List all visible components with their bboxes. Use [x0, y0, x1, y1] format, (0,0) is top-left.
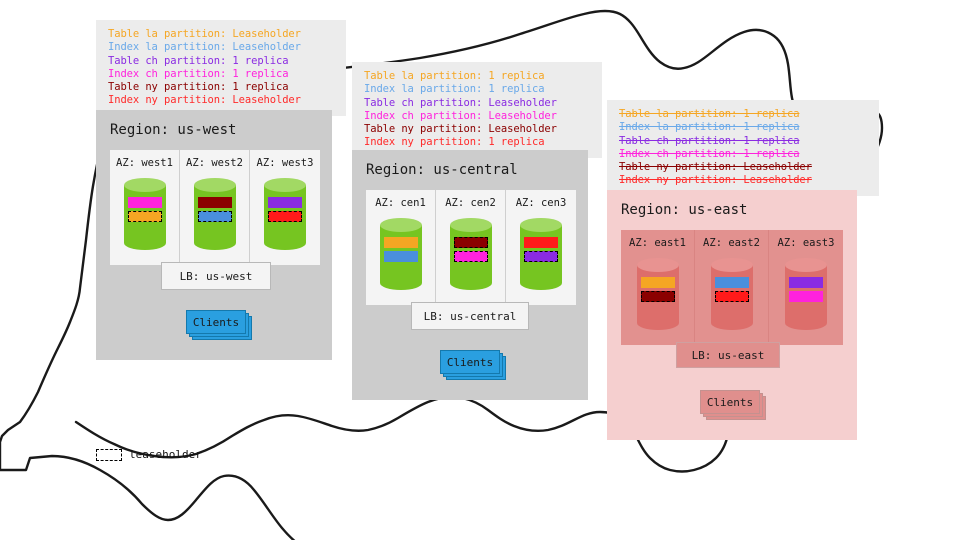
partition-bar-leaseholder	[454, 251, 488, 262]
config-line: Table ch partition: 1 replica	[619, 135, 869, 148]
config-line: Index ch partition: Leaseholder	[364, 110, 592, 123]
lb-us-east[interactable]: LB: us-east	[676, 342, 780, 368]
database-cylinder[interactable]	[264, 178, 306, 250]
lb-us-central[interactable]: LB: us-central	[411, 302, 529, 330]
partition-bars	[715, 277, 749, 305]
partition-bar-replica	[384, 237, 418, 248]
config-line: Index ny partition: Leaseholder	[619, 174, 869, 187]
partition-bars	[198, 197, 232, 225]
config-line: Table ny partition: Leaseholder	[364, 123, 592, 136]
partition-bars	[128, 197, 162, 225]
config-line: Index ch partition: 1 replica	[108, 68, 336, 81]
az-east2[interactable]: AZ: east2	[695, 230, 769, 345]
cylinder-top	[637, 258, 679, 272]
az-label: AZ: east1	[621, 237, 694, 249]
az-label: AZ: east3	[769, 237, 843, 249]
clients-label-us-east: Clients	[700, 390, 760, 414]
az-container-us-central: AZ: cen1AZ: cen2AZ: cen3	[366, 190, 576, 305]
config-line: Table ny partition: 1 replica	[108, 81, 336, 94]
partition-bar-leaseholder	[641, 291, 675, 302]
partition-bar-leaseholder	[268, 211, 302, 222]
cylinder-top	[264, 178, 306, 192]
partition-bar-replica	[641, 277, 675, 288]
partition-bars	[454, 237, 488, 265]
partition-bar-replica	[789, 291, 823, 302]
partition-bars	[524, 237, 558, 265]
az-west2[interactable]: AZ: west2	[180, 150, 250, 265]
config-line: Table ch partition: 1 replica	[108, 55, 336, 68]
cylinder-top	[711, 258, 753, 272]
az-label: AZ: west1	[110, 157, 179, 169]
partition-bar-replica	[198, 197, 232, 208]
az-label: AZ: east2	[695, 237, 768, 249]
cylinder-top	[194, 178, 236, 192]
partition-bar-replica	[715, 277, 749, 288]
az-east1[interactable]: AZ: east1	[621, 230, 695, 345]
partition-bars	[268, 197, 302, 225]
database-cylinder[interactable]	[785, 258, 827, 330]
cylinder-top	[380, 218, 422, 232]
partition-bar-leaseholder	[128, 211, 162, 222]
az-cen1[interactable]: AZ: cen1	[366, 190, 436, 305]
clients-us-central[interactable]: Clients	[440, 350, 510, 382]
config-panel-us-east: Table la partition: 1 replicaIndex la pa…	[607, 100, 879, 196]
az-container-us-west: AZ: west1AZ: west2AZ: west3	[110, 150, 320, 265]
partition-bar-replica	[268, 197, 302, 208]
partition-bar-leaseholder	[715, 291, 749, 302]
config-line: Table ny partition: Leaseholder	[619, 161, 869, 174]
partition-bar-leaseholder	[198, 211, 232, 222]
partition-bar-leaseholder	[454, 237, 488, 248]
leaseholder-legend-label: leaseholder	[129, 448, 202, 461]
leaseholder-swatch-icon	[96, 449, 122, 461]
az-cen3[interactable]: AZ: cen3	[506, 190, 576, 305]
region-title-us-west: Region: us-west	[110, 122, 236, 138]
partition-bars	[641, 277, 675, 305]
database-cylinder[interactable]	[637, 258, 679, 330]
partition-bar-replica	[524, 237, 558, 248]
config-line: Index ny partition: Leaseholder	[108, 94, 336, 107]
cylinder-top	[124, 178, 166, 192]
config-line: Index la partition: 1 replica	[364, 83, 592, 96]
config-line: Table la partition: 1 replica	[364, 70, 592, 83]
database-cylinder[interactable]	[380, 218, 422, 290]
database-cylinder[interactable]	[450, 218, 492, 290]
az-west3[interactable]: AZ: west3	[250, 150, 320, 265]
config-panel-us-west: Table la partition: LeaseholderIndex la …	[96, 20, 346, 116]
config-line: Index la partition: Leaseholder	[108, 41, 336, 54]
az-container-us-east: AZ: east1AZ: east2AZ: east3	[621, 230, 843, 345]
config-line: Table la partition: 1 replica	[619, 108, 869, 121]
az-label: AZ: west2	[180, 157, 249, 169]
partition-bar-leaseholder	[524, 251, 558, 262]
clients-label-us-central: Clients	[440, 350, 500, 374]
az-label: AZ: cen2	[436, 197, 505, 209]
region-title-us-central: Region: us-central	[366, 162, 518, 178]
clients-label-us-west: Clients	[186, 310, 246, 334]
config-line: Index la partition: 1 replica	[619, 121, 869, 134]
cylinder-top	[520, 218, 562, 232]
partition-bars	[789, 277, 823, 305]
lb-us-west[interactable]: LB: us-west	[161, 262, 271, 290]
az-west1[interactable]: AZ: west1	[110, 150, 180, 265]
az-label: AZ: west3	[250, 157, 320, 169]
az-east3[interactable]: AZ: east3	[769, 230, 843, 345]
database-cylinder[interactable]	[124, 178, 166, 250]
database-cylinder[interactable]	[520, 218, 562, 290]
config-panel-us-central: Table la partition: 1 replicaIndex la pa…	[352, 62, 602, 158]
leaseholder-legend: leaseholder	[96, 448, 202, 461]
config-line: Table ch partition: Leaseholder	[364, 97, 592, 110]
az-label: AZ: cen3	[506, 197, 576, 209]
cylinder-top	[785, 258, 827, 272]
region-title-us-east: Region: us-east	[621, 202, 747, 218]
config-line: Index ny partition: 1 replica	[364, 136, 592, 149]
partition-bar-replica	[128, 197, 162, 208]
clients-us-west[interactable]: Clients	[186, 310, 256, 342]
database-cylinder[interactable]	[194, 178, 236, 250]
database-cylinder[interactable]	[711, 258, 753, 330]
az-label: AZ: cen1	[366, 197, 435, 209]
config-line: Index ch partition: 1 replica	[619, 148, 869, 161]
partition-bars	[384, 237, 418, 265]
config-line: Table la partition: Leaseholder	[108, 28, 336, 41]
az-cen2[interactable]: AZ: cen2	[436, 190, 506, 305]
partition-bar-replica	[384, 251, 418, 262]
partition-bar-replica	[789, 277, 823, 288]
cylinder-top	[450, 218, 492, 232]
clients-us-east[interactable]: Clients	[700, 390, 770, 422]
